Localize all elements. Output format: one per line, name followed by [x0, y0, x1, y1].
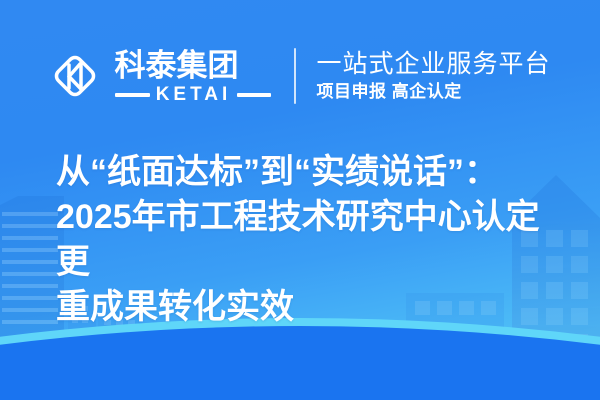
- brand-company-cn-wrap: 科泰集团: [114, 48, 272, 82]
- banner-header: 科泰集团 KETAI 一站式企业服务平台 项目申报 高企认定: [0, 38, 600, 114]
- ketai-diamond-kt-monogram-icon: [49, 49, 101, 103]
- brand-company-latin: KETAI: [156, 85, 232, 104]
- page-title-line: 重成果转化实效: [56, 285, 556, 330]
- slogan-sub-text: 项目申报 高企认定: [316, 83, 550, 101]
- page-title: 从“纸面达标”到“实绩说话”： 2025年市工程技术研究中心认定更 重成果转化实…: [56, 150, 556, 330]
- brand-logo[interactable]: 科泰集团 KETAI: [49, 48, 272, 104]
- header-divider: [294, 48, 296, 104]
- brand-wordmark: 科泰集团 KETAI: [114, 48, 272, 104]
- left-dash-ornament: [115, 93, 149, 97]
- right-dash-ornament: [237, 93, 271, 97]
- brand-company-cn: 科泰集团: [114, 50, 238, 81]
- page-title-line: 2025年市工程技术研究中心认定更: [56, 195, 556, 285]
- page-title-line: 从“纸面达标”到“实绩说话”：: [56, 150, 556, 195]
- brand-latin-row: KETAI: [114, 85, 272, 104]
- slogan-main-text: 一站式企业服务平台: [316, 51, 550, 77]
- promo-banner: 科泰集团 KETAI 一站式企业服务平台 项目申报 高企认定 从“纸面达标”到“…: [0, 0, 600, 400]
- slogan-block: 一站式企业服务平台 项目申报 高企认定: [316, 51, 550, 100]
